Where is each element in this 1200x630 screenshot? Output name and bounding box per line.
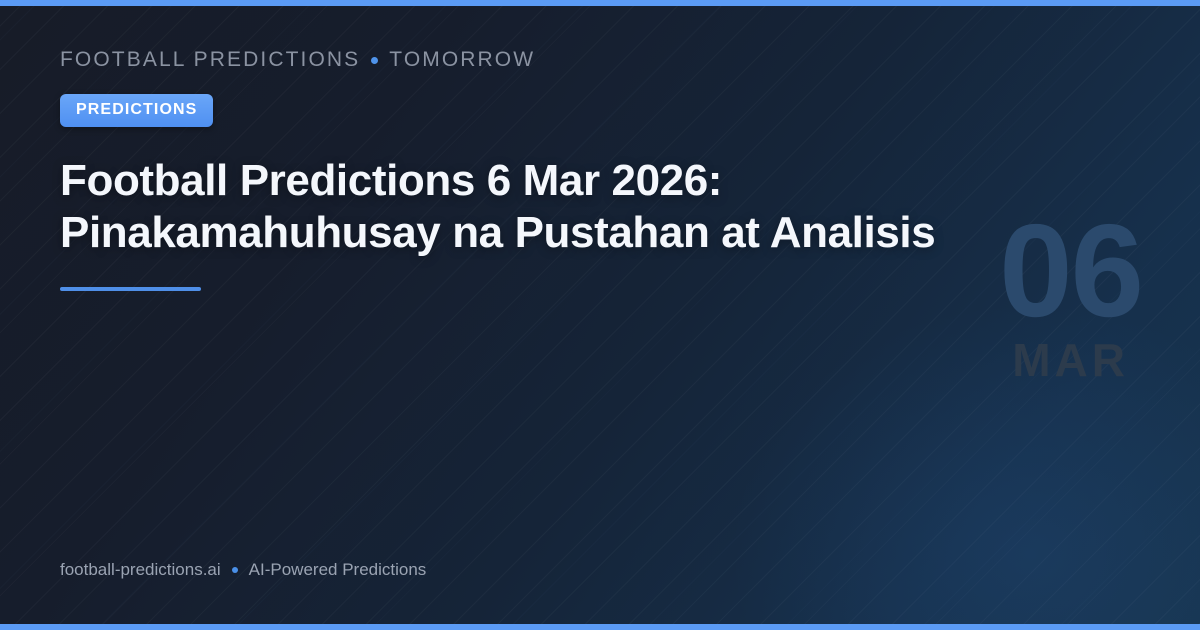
date-watermark-month: MAR	[999, 337, 1142, 383]
blue-dot-icon	[232, 567, 238, 573]
footer-site-name[interactable]: football-predictions.ai	[60, 560, 221, 580]
kicker: FOOTBALL PREDICTIONS TOMORROW	[60, 48, 1140, 72]
kicker-category: FOOTBALL PREDICTIONS	[60, 48, 360, 72]
card-footer: football-predictions.ai AI-Powered Predi…	[60, 560, 426, 580]
page-title: Football Predictions 6 Mar 2026: Pinakam…	[60, 155, 960, 259]
kicker-timeframe: TOMORROW	[389, 48, 535, 72]
corner-glow-decoration	[720, 294, 1200, 630]
card-content: FOOTBALL PREDICTIONS TOMORROW PREDICTION…	[60, 48, 1140, 291]
blue-dot-icon	[371, 57, 378, 64]
accent-rule-divider	[60, 287, 201, 291]
footer-tagline: AI-Powered Predictions	[249, 560, 427, 580]
social-share-card: 06 MAR FOOTBALL PREDICTIONS TOMORROW PRE…	[0, 0, 1200, 630]
predictions-tag-badge[interactable]: PREDICTIONS	[60, 94, 213, 127]
